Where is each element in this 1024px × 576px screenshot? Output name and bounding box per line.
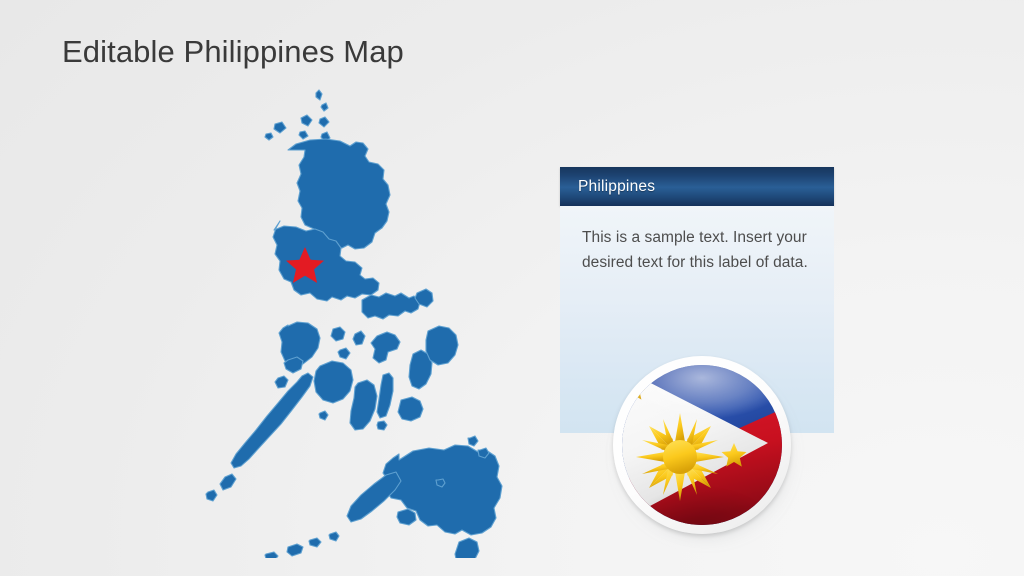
- island-masbate: [371, 332, 400, 363]
- island-sulu-1: [287, 544, 303, 556]
- island-babuyan-1: [301, 115, 312, 126]
- island-palawan: [231, 373, 313, 468]
- island-cebu: [377, 373, 393, 418]
- island-basilan: [397, 509, 416, 525]
- island-babuyan-6: [265, 133, 273, 140]
- island-sulu-2: [309, 538, 321, 547]
- badge-flag-face: [622, 365, 782, 525]
- region-bicol: [362, 293, 420, 319]
- panel-header-title: Philippines: [578, 167, 655, 206]
- island-batanes-2: [321, 103, 328, 111]
- island-batanes-1: [316, 90, 322, 100]
- page-title: Editable Philippines Map: [62, 34, 404, 70]
- panel-body-text: This is a sample text. Insert your desir…: [582, 225, 812, 275]
- flag-sun: [636, 413, 724, 501]
- island-romblon: [338, 348, 350, 359]
- island-babuyan-4: [299, 131, 308, 139]
- flag-star-bottom: [627, 515, 645, 525]
- island-dinagat: [468, 436, 478, 446]
- island-palawan-south: [220, 474, 236, 490]
- philippines-flag-svg: [622, 365, 782, 525]
- island-samar: [426, 326, 458, 365]
- island-siquijor: [377, 421, 387, 430]
- island-bohol: [398, 397, 423, 421]
- philippines-map-svg[interactable]: [170, 88, 530, 558]
- region-davao-south: [455, 538, 479, 558]
- panel-header: Philippines: [560, 167, 834, 206]
- island-burias: [353, 331, 365, 345]
- flag-sun-disc: [663, 440, 697, 474]
- map-landmass-group[interactable]: [206, 90, 502, 558]
- island-panay: [314, 361, 353, 403]
- island-babuyan-2: [319, 117, 329, 127]
- philippines-map[interactable]: [170, 88, 530, 558]
- island-balabac: [206, 490, 217, 501]
- island-babuyan-3: [274, 122, 286, 133]
- philippines-flag-badge[interactable]: [613, 356, 791, 534]
- island-culion: [275, 376, 288, 388]
- island-negros: [350, 380, 377, 430]
- island-sulu-3: [329, 532, 339, 541]
- island-cuyo: [319, 411, 328, 420]
- island-marinduque: [331, 327, 345, 341]
- island-tawitawi: [265, 552, 278, 558]
- slide-canvas: Editable Philippines Map: [0, 0, 1024, 576]
